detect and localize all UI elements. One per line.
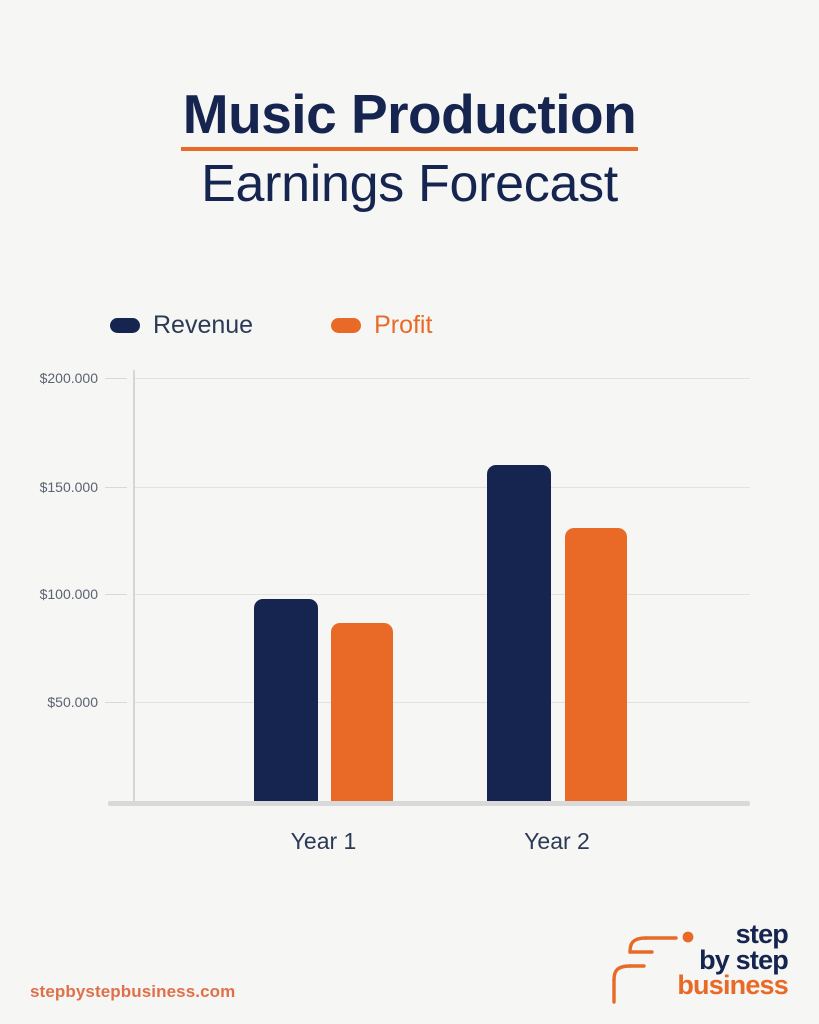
site-url-text[interactable]: stepbystepbusiness.com xyxy=(30,982,235,1002)
tick-stub-150000 xyxy=(105,487,127,488)
logo-line-1: step xyxy=(677,922,788,948)
x-axis-tick-label-year-2: Year 2 xyxy=(487,828,627,855)
y-axis-tick-label: $50.000 xyxy=(47,694,98,710)
bar-revenue-year-1[interactable] xyxy=(254,599,318,801)
y-axis-tick-label: $150.000 xyxy=(40,479,98,495)
step-by-step-business-logo[interactable]: step by step business xyxy=(592,922,792,1004)
y-axis-line xyxy=(133,370,135,804)
logo-line-3: business xyxy=(677,973,788,999)
tick-stub-50000 xyxy=(105,702,127,703)
bar-profit-year-2[interactable] xyxy=(565,528,627,801)
bar-profit-year-1[interactable] xyxy=(331,623,393,801)
gridline-200000 xyxy=(133,378,750,379)
y-axis-tick-label: $100.000 xyxy=(40,586,98,602)
gridline-100000 xyxy=(133,594,750,595)
x-axis-tick-label-year-1: Year 1 xyxy=(254,828,393,855)
bar-chart: $200.000 $150.000 $100.000 $50.000 Year … xyxy=(0,0,819,1024)
logo-wordmark: step by step business xyxy=(677,922,788,999)
tick-stub-100000 xyxy=(105,594,127,595)
y-axis-tick-label: $200.000 xyxy=(40,370,98,386)
tick-stub-200000 xyxy=(105,378,127,379)
gridline-150000 xyxy=(133,487,750,488)
x-axis-baseline xyxy=(108,801,750,806)
bar-revenue-year-2[interactable] xyxy=(487,465,551,801)
gridline-50000 xyxy=(133,702,750,703)
